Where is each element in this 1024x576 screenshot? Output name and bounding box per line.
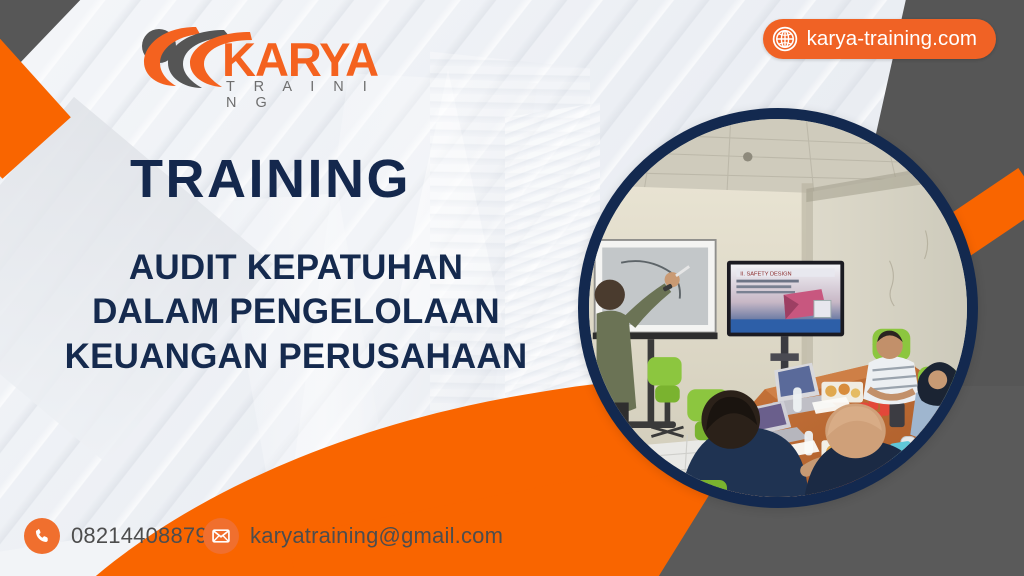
page-title-line-1: AUDIT KEPATUHAN xyxy=(36,246,556,290)
envelope-glyph xyxy=(211,526,231,546)
envelope-icon xyxy=(203,518,239,554)
photo-circle-frame: II. SAFETY DESIGN xyxy=(578,108,978,508)
page-title-line-3: KEUANGAN PERUSAHAAN xyxy=(36,335,556,379)
phone-icon xyxy=(24,518,60,554)
contact-phone-label: 082144088796 xyxy=(71,523,220,549)
training-poster: KARYA T R A I N I N G karya-training.com… xyxy=(0,0,1024,576)
page-eyebrow-title: TRAINING xyxy=(130,148,411,210)
globe-icon xyxy=(772,26,798,52)
karya-training-logo[interactable]: KARYA T R A I N I N G xyxy=(138,22,378,92)
training-room-photo: II. SAFETY DESIGN xyxy=(589,119,967,497)
contact-email[interactable]: karyatraining@gmail.com xyxy=(203,518,503,554)
contact-phone[interactable]: 082144088796 xyxy=(24,518,220,554)
phone-glyph xyxy=(33,527,52,546)
contact-email-label: karyatraining@gmail.com xyxy=(250,523,503,549)
logo-tagline: T R A I N I N G xyxy=(226,79,378,111)
svg-text:II. SAFETY DESIGN: II. SAFETY DESIGN xyxy=(740,271,791,277)
website-badge[interactable]: karya-training.com xyxy=(763,19,996,59)
training-room-illustration: II. SAFETY DESIGN xyxy=(589,119,967,497)
page-title-line-2: DALAM PENGELOLAAN xyxy=(36,290,556,334)
website-url-label: karya-training.com xyxy=(807,27,977,51)
page-title: AUDIT KEPATUHAN DALAM PENGELOLAAN KEUANG… xyxy=(36,246,556,379)
